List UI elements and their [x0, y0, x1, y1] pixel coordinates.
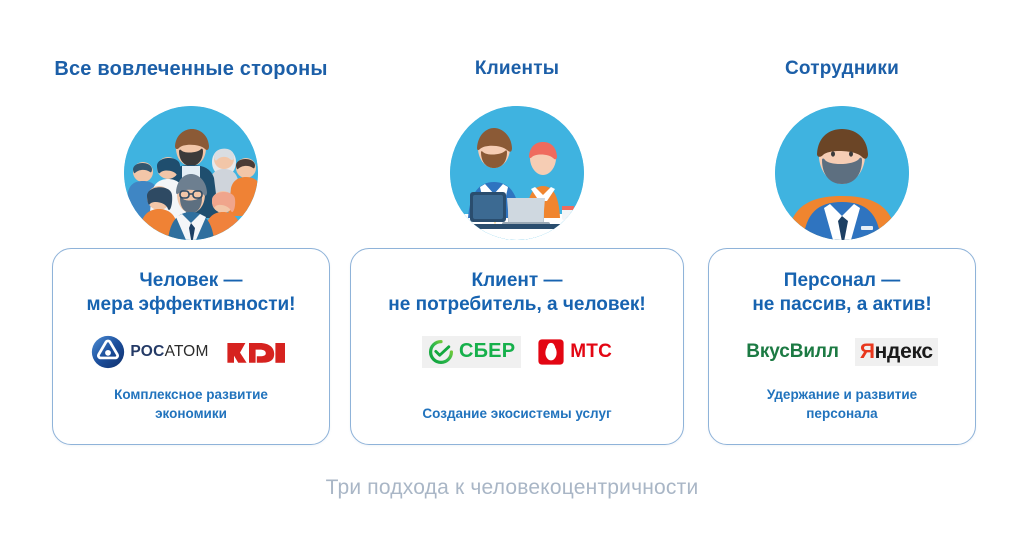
- card-employees[interactable]: Персонал — не пассив, а актив! ВкусВилл …: [708, 248, 976, 445]
- rosatom-mark-icon: [91, 335, 125, 369]
- card-note-employees: Удержание и развитие персонала: [709, 385, 975, 424]
- card-all-stakeholders[interactable]: Человек — мера эффективности!: [52, 248, 330, 445]
- column-clients: Клиенты: [350, 0, 684, 465]
- sber-mark-icon: [428, 339, 454, 365]
- yandex-rest-letters: ндекс: [875, 340, 933, 363]
- illustration-wrap-employees: [708, 106, 976, 240]
- column-header-clients: Клиенты: [350, 58, 684, 80]
- rosatom-word-light: АТОМ: [165, 343, 209, 360]
- figure-caption: Три подхода к человекоцентричности: [0, 476, 1024, 500]
- logo-row-employees: ВкусВилл Яндекс: [746, 332, 938, 372]
- card-clients[interactable]: Клиент — не потребитель, а человек!: [350, 248, 684, 445]
- two-people-with-laptops-illustration: [450, 106, 584, 240]
- logo-row-clients: СБЕР МТС: [422, 332, 612, 372]
- column-header-employees: Сотрудники: [708, 58, 976, 80]
- vkusvill-wordmark: ВкусВилл: [746, 341, 839, 363]
- yandex-accent-letter: Я: [860, 340, 875, 363]
- rosatom-wordmark: РОСАТОМ: [130, 343, 208, 361]
- logo-row-all-stakeholders: РОСАТОМ: [91, 332, 290, 372]
- sber-wordmark: СБЕР: [459, 340, 515, 363]
- card-title-all-stakeholders: Человек — мера эффективности!: [80, 269, 301, 318]
- infographic-canvas: Все вовлеченные стороны: [0, 0, 1024, 545]
- rzd-mark-icon: [225, 337, 291, 367]
- column-employees: Сотрудники: [708, 0, 976, 465]
- rzd-logo: [225, 337, 291, 367]
- mts-wordmark: МТС: [570, 341, 612, 363]
- illustration-wrap-clients: [350, 106, 684, 240]
- businessman-portrait-illustration: [775, 106, 909, 240]
- column-header-all-stakeholders: Все вовлеченные стороны: [52, 58, 330, 81]
- card-title-employees: Персонал — не пассив, а актив!: [746, 269, 937, 318]
- card-title-clients: Клиент — не потребитель, а человек!: [382, 269, 651, 318]
- group-of-people-illustration: [124, 106, 258, 240]
- column-all-stakeholders: Все вовлеченные стороны: [52, 0, 330, 465]
- mts-mark-icon: [537, 338, 565, 366]
- card-note-clients: Создание экосистемы услуг: [351, 404, 683, 424]
- vkusvill-logo: ВкусВилл: [746, 341, 839, 363]
- yandex-logo: Яндекс: [855, 338, 938, 366]
- rosatom-logo: РОСАТОМ: [91, 335, 208, 369]
- yandex-wordmark: Яндекс: [860, 340, 933, 364]
- illustration-wrap-all-stakeholders: [52, 106, 330, 240]
- mts-logo: МТС: [537, 338, 612, 366]
- rosatom-word-bold: РОС: [130, 343, 164, 360]
- sber-logo: СБЕР: [422, 336, 521, 368]
- card-note-all-stakeholders: Комплексное развитие экономики: [53, 385, 329, 424]
